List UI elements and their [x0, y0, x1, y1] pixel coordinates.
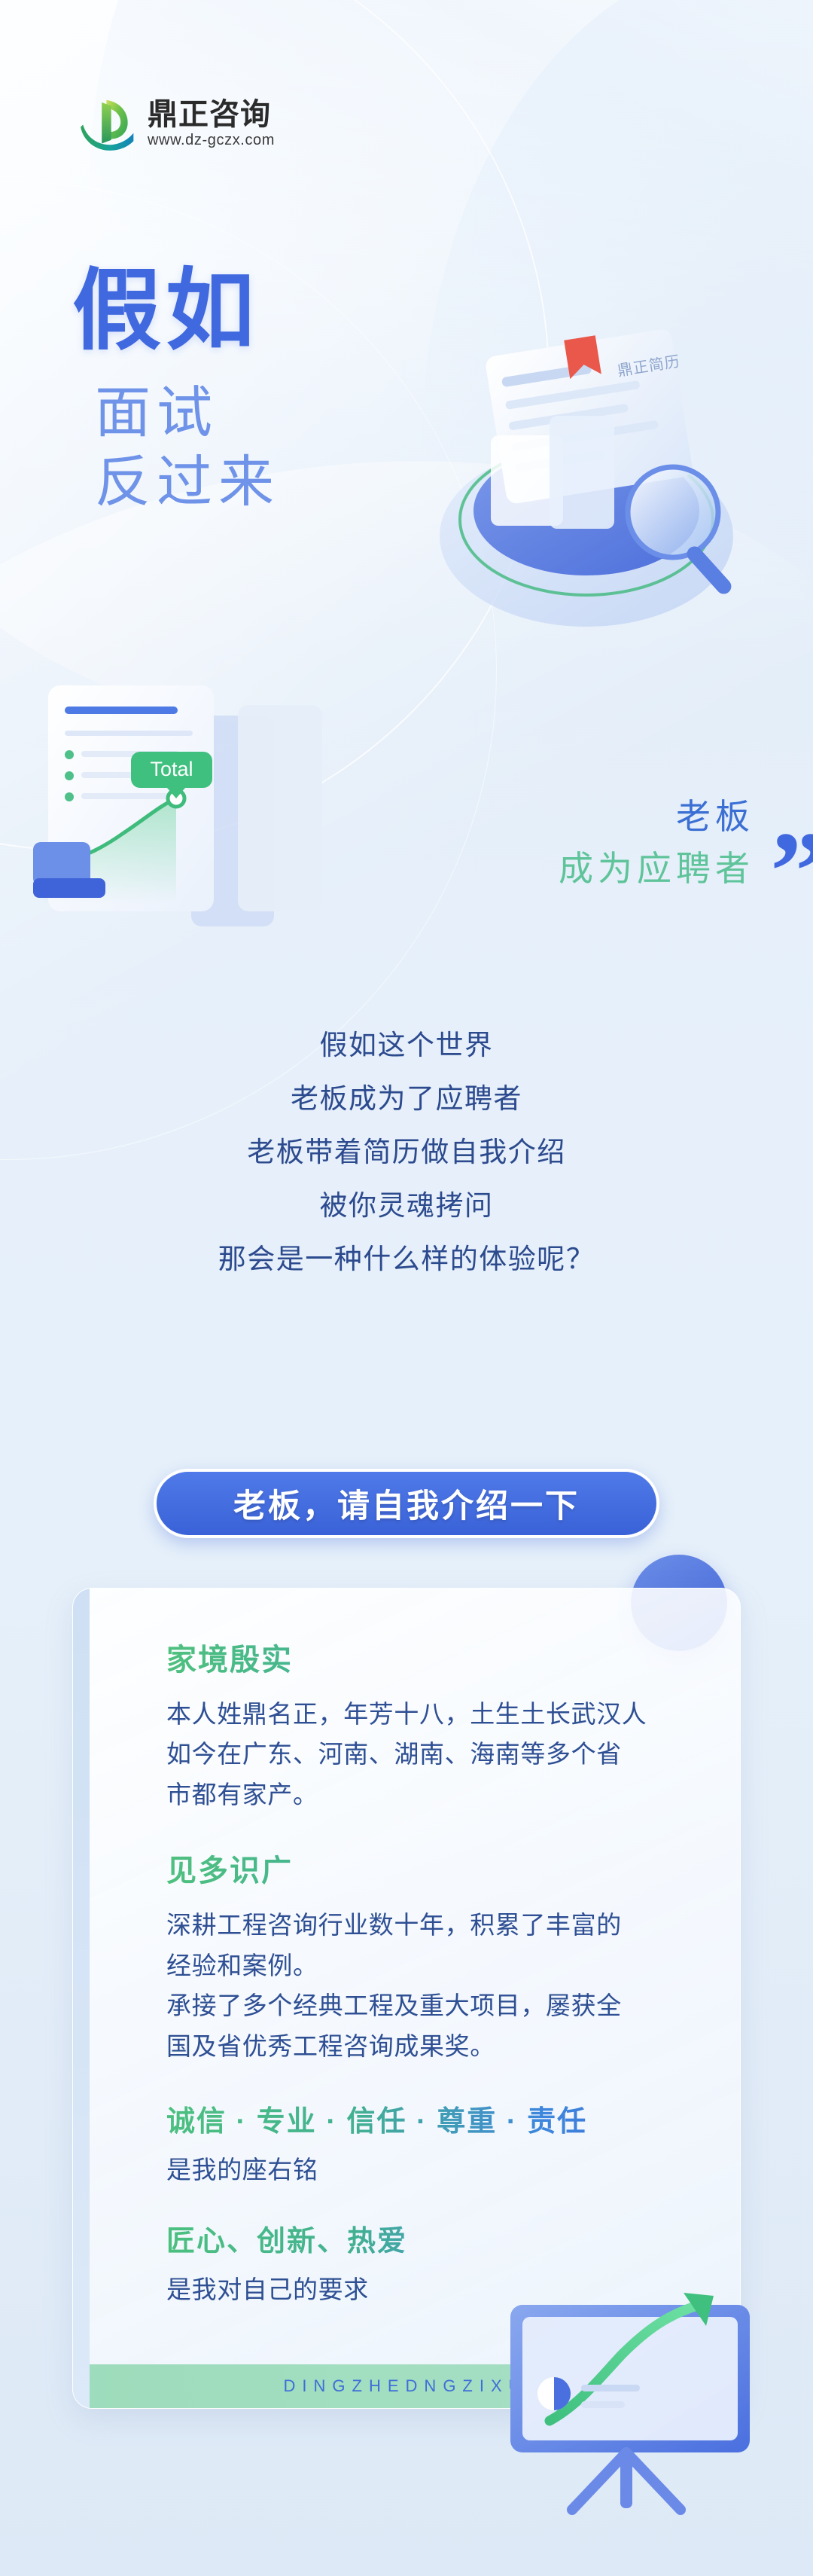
resume-illustration: 鼎正简历	[402, 310, 771, 642]
hero-subtitle-line1: 面试	[95, 378, 280, 448]
intro-line: 假如这个世界	[0, 1018, 813, 1072]
cta-button[interactable]: 老板，请自我介绍一下	[154, 1469, 659, 1538]
hero-title-block: 假如 面试 反过来	[72, 265, 280, 517]
quote-block: 老板 成为应聘者	[559, 791, 754, 895]
section-line: 承接了多个经典工程及重大项目，屡获全	[166, 1985, 692, 2025]
easel-illustration	[467, 2261, 783, 2517]
dz-leaf-logo-icon	[78, 96, 137, 151]
section-line: 如今在广东、河南、湖南、海南等多个省	[166, 1734, 692, 1774]
section-body: 深耕工程咨询行业数十年，积累了丰富的 经验和案例。 承接了多个经典工程及重大项目…	[166, 1905, 692, 2066]
card-section: 家境殷实 本人姓鼎名正，年芳十八，土生土长武汉人 如今在广东、河南、湖南、海南等…	[166, 1635, 692, 1814]
quote-mark-icon: ”	[770, 815, 813, 928]
intro-line: 那会是一种什么样的体验呢？	[0, 1232, 813, 1286]
intro-paragraph: 假如这个世界 老板成为了应聘者 老板带着简历做自我介绍 被你灵魂拷问 那会是一种…	[0, 1018, 813, 1286]
intro-line: 被你灵魂拷问	[0, 1179, 813, 1232]
section-body: 本人姓鼎名正，年芳十八，土生土长武汉人 如今在广东、河南、湖南、海南等多个省 市…	[166, 1694, 692, 1814]
brand-logo: 鼎正咨询 www.dz-gczx.com	[78, 96, 275, 151]
section-title: 见多识广	[166, 1846, 692, 1890]
motto-subtitle: 是我的座右铭	[166, 2150, 692, 2186]
section-line: 深耕工程咨询行业数十年，积累了丰富的	[166, 1905, 692, 1945]
section-line: 国及省优秀工程咨询成果奖。	[166, 2026, 692, 2066]
motto-title: 匠心、创新、热爱	[166, 2217, 692, 2259]
intro-line: 老板成为了应聘者	[0, 1072, 813, 1125]
motto-title: 诚信 · 专业 · 信任 · 尊重 · 责任	[166, 2098, 692, 2139]
brand-name: 鼎正咨询	[148, 99, 275, 130]
section-line: 市都有家产。	[166, 1775, 692, 1814]
chart-illustration: Total	[33, 663, 387, 972]
quote-line-2: 成为应聘者	[559, 843, 754, 895]
page-title: 假如	[72, 265, 280, 359]
hero-subtitle-line2: 反过来	[95, 447, 280, 517]
chart-total-badge-label: Total	[150, 758, 193, 780]
card-section: 见多识广 深耕工程咨询行业数十年，积累了丰富的 经验和案例。 承接了多个经典工程…	[166, 1846, 692, 2066]
card-motto: 诚信 · 专业 · 信任 · 尊重 · 责任 是我的座右铭	[166, 2098, 692, 2186]
section-line: 本人姓鼎名正，年芳十八，土生土长武汉人	[166, 1694, 692, 1734]
brand-website: www.dz-gczx.com	[148, 132, 275, 149]
intro-line: 老板带着简历做自我介绍	[0, 1125, 813, 1179]
poster-page: 鼎正咨询 www.dz-gczx.com 假如 面试 反过来	[0, 0, 813, 2576]
quote-line-1: 老板	[559, 791, 754, 843]
section-line: 经验和案例。	[166, 1946, 692, 1985]
section-title: 家境殷实	[166, 1635, 692, 1679]
card-left-stripe	[73, 1589, 90, 2408]
cta-button-label: 老板，请自我介绍一下	[233, 1480, 580, 1527]
